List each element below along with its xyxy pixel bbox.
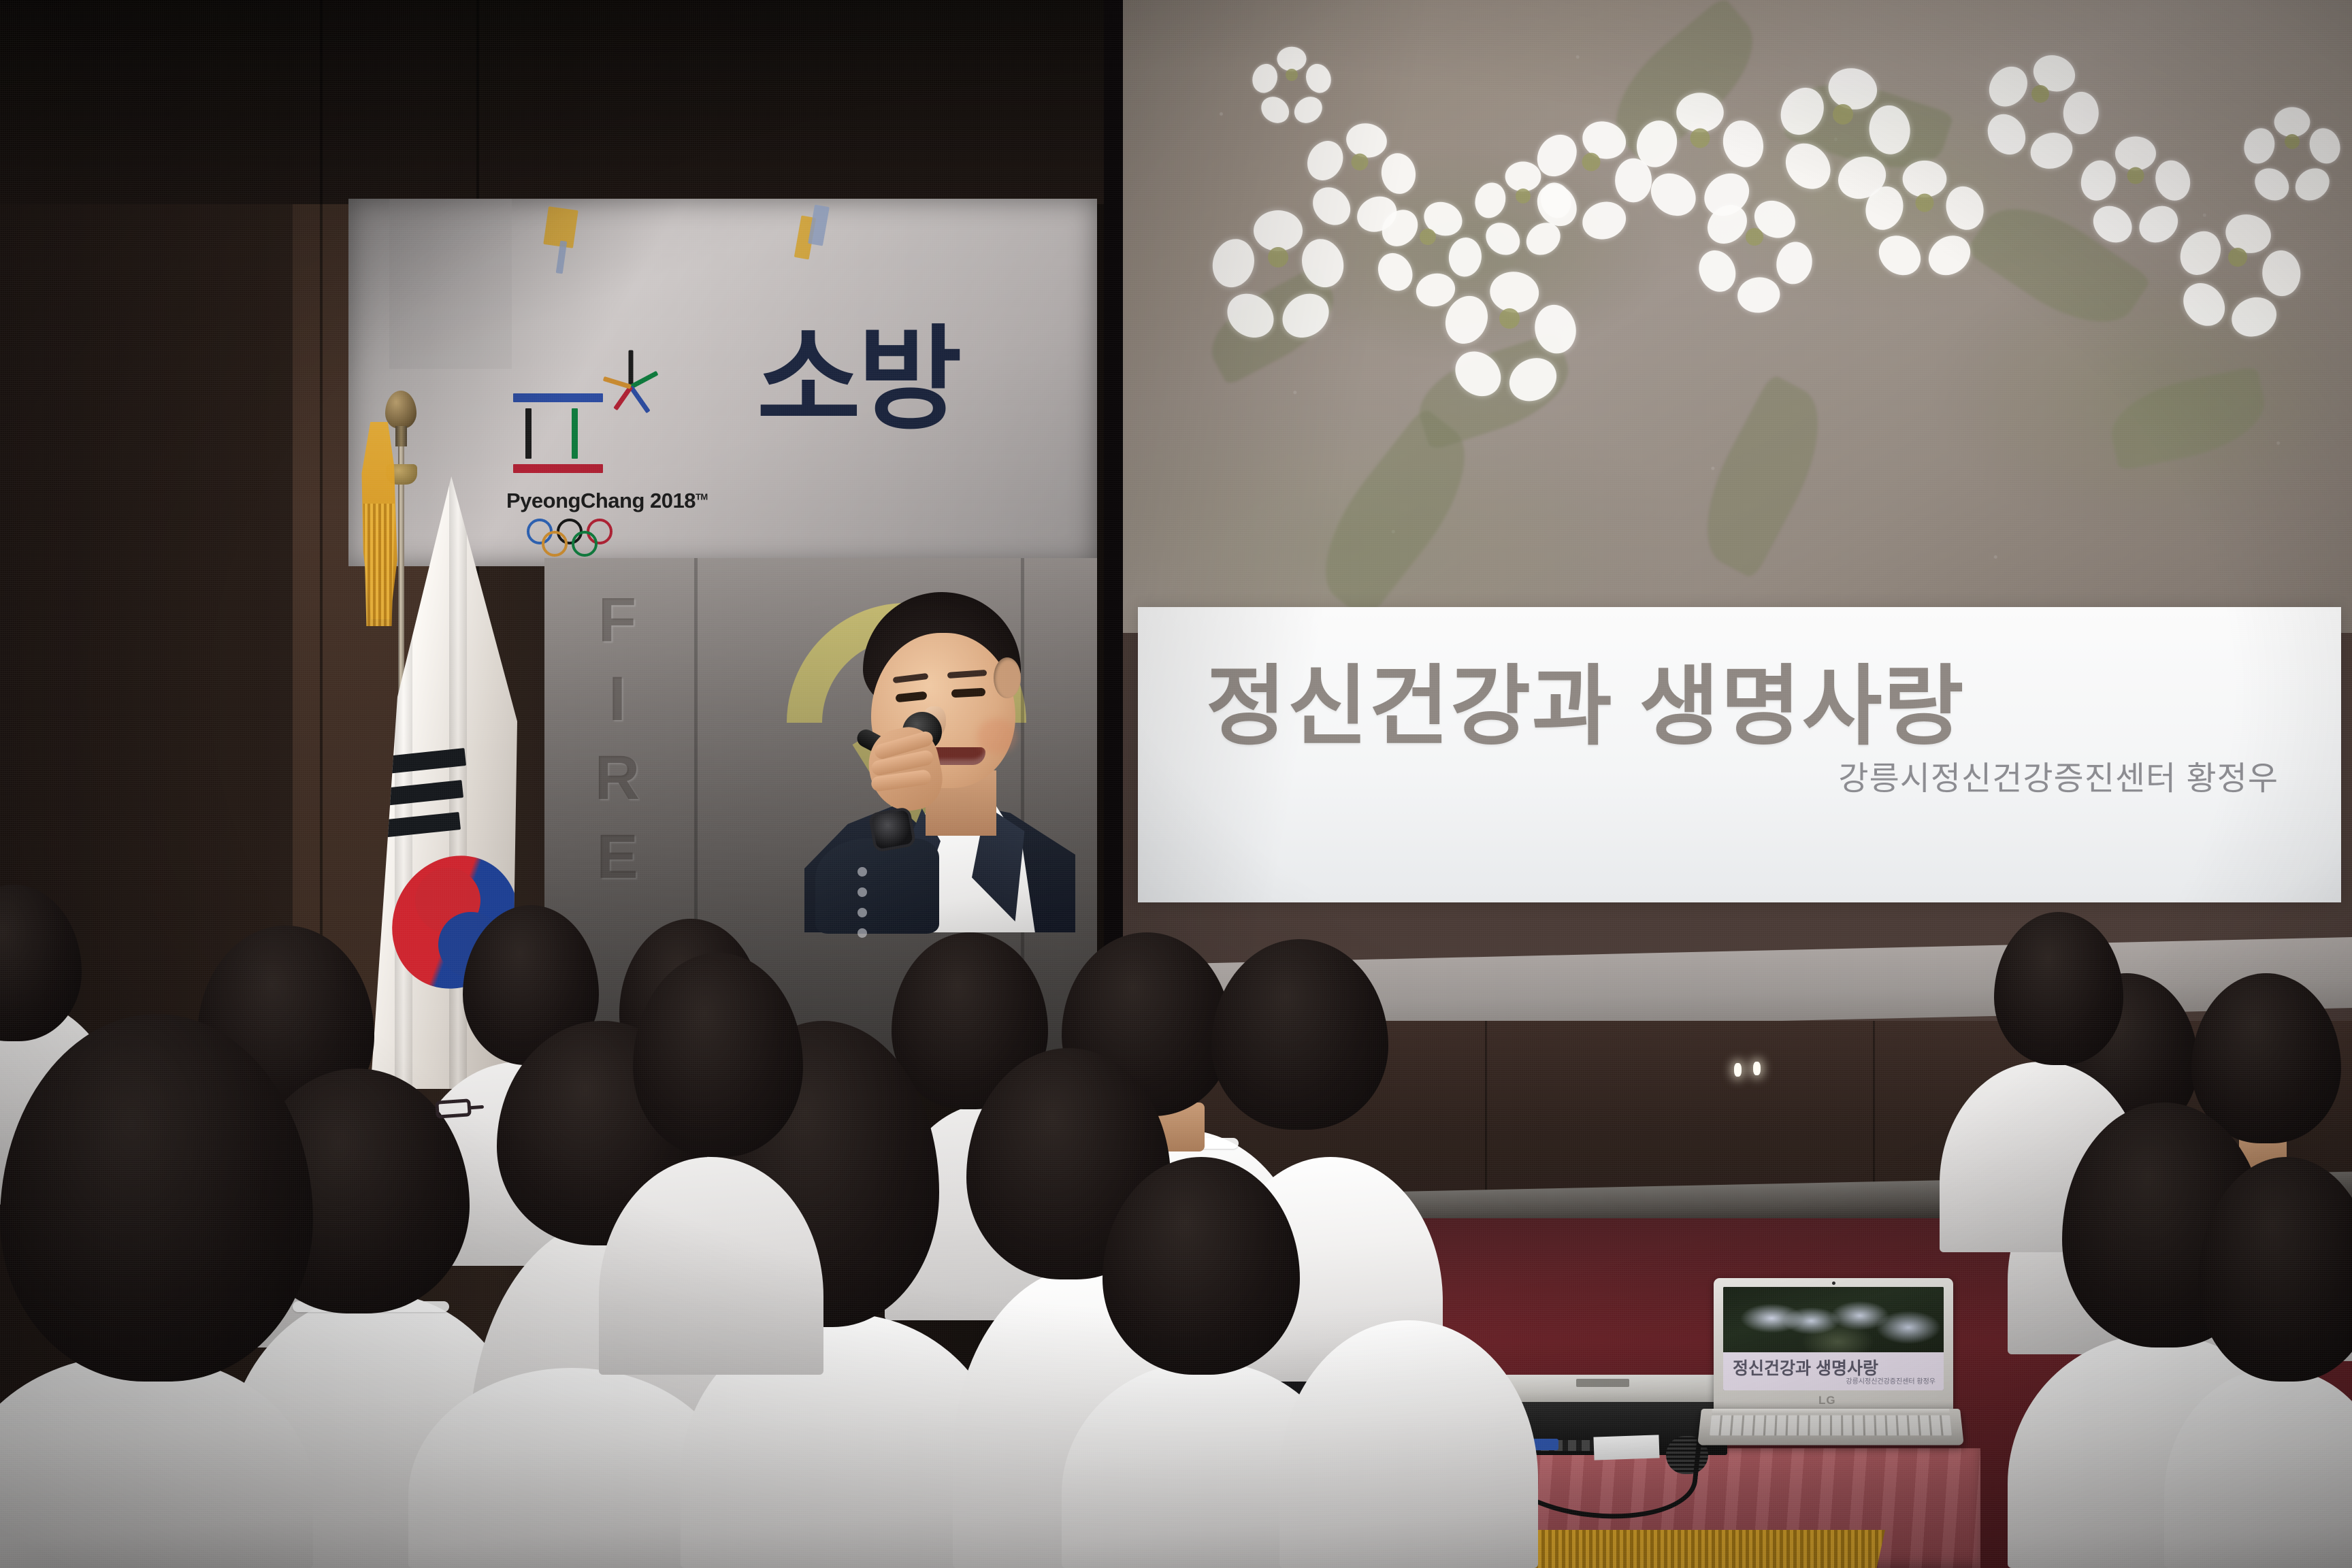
banner-panel-patch [389,199,512,369]
wristwatch [868,806,916,853]
speaker-arm [815,838,939,934]
laptop-slide-subtitle: 강릉시정신건강증진센터 황정우 [1846,1375,1935,1386]
emblem-star-icon [593,347,668,422]
eyeglasses-icon [435,1098,472,1119]
slide-title: 정신건강과 생명사랑 [1206,636,1965,762]
slide-blossom [1388,197,1467,276]
laptop-base [1697,1409,1964,1445]
laptop-lid: 정신건강과 생명사랑 강릉시정신건강증진센터 황정우 LG [1714,1278,1953,1411]
emblem-wordmark-text: PyeongChang 2018 [506,489,696,512]
olympic-rings-icon [527,519,649,555]
slide-blossom [1880,159,1969,247]
emblem-bar-right [572,408,578,459]
projector-vent [1576,1379,1629,1387]
slide-blossom [1319,121,1401,203]
emblem-wordmark: PyeongChang 2018TM [506,489,676,513]
slide-blossom [1998,52,2083,137]
laptop-display: 정신건강과 생명사랑 강릉시정신건강증진센터 황정우 [1723,1287,1944,1390]
speaker-cheek-highlight [977,719,1017,754]
photo-canvas: PyeongChang 2018TM 소방 FIRE [0,0,2352,1568]
slide-blossom [2192,212,2283,303]
slide-blossom [1229,208,1327,306]
laptop-keyboard[interactable] [1710,1416,1952,1436]
slide-blossom [1712,195,1797,280]
pyeongchang-emblem: PyeongChang 2018TM [506,340,676,544]
pyeongchang-banner: PyeongChang 2018TM 소방 [348,199,1097,566]
laptop-hinge [1712,1409,1950,1415]
slide-blossom [2095,135,2176,216]
emblem-trademark: TM [696,492,708,502]
slide-blossom [1460,269,1558,367]
emblem-bar-top [513,393,603,402]
slide-blossom [2256,105,2328,178]
slide-photo-background [1123,0,2352,633]
emblem-bar-bottom [513,464,603,473]
speaker-presenter [789,592,1075,932]
emblem-bar-left [525,408,532,459]
laptop[interactable]: 정신건강과 생명사랑 강릉시정신건강증진센터 황정우 LG [1701,1278,1960,1456]
slide-blossom [1794,65,1892,163]
laptop-slide-photo [1723,1287,1944,1352]
jacket-buttons [857,867,872,932]
slide-blossom [1262,46,1321,104]
projection-screen: 정신건강과 생명사랑 강릉시정신건강증진센터 황정우 [1123,0,2352,1024]
banner-brushstroke-blue [808,205,830,246]
slide-blossom [1547,118,1635,206]
webcam-icon [1832,1281,1835,1285]
indicator-light [1753,1062,1761,1075]
speaker-ear [994,657,1021,698]
slide-title-band: 정신건강과 생명사랑 강릉시정신건강증진센터 황정우 [1138,607,2341,902]
laptop-slide-band: 정신건강과 생명사랑 강릉시정신건강증진센터 황정우 [1723,1352,1944,1390]
banner-korean-text: 소방 [757,327,959,434]
slide-subtitle: 강릉시정신건강증진센터 황정우 [1838,751,2278,799]
slide-blossom [1652,91,1747,185]
wall-embossed-text: FIRE [581,585,653,901]
laptop-brand-logo: LG [1818,1394,1836,1407]
ceiling-shadow [0,0,1157,204]
wall-seam [320,0,323,953]
indicator-light [1734,1063,1742,1077]
flag-finial-neck [395,426,407,446]
